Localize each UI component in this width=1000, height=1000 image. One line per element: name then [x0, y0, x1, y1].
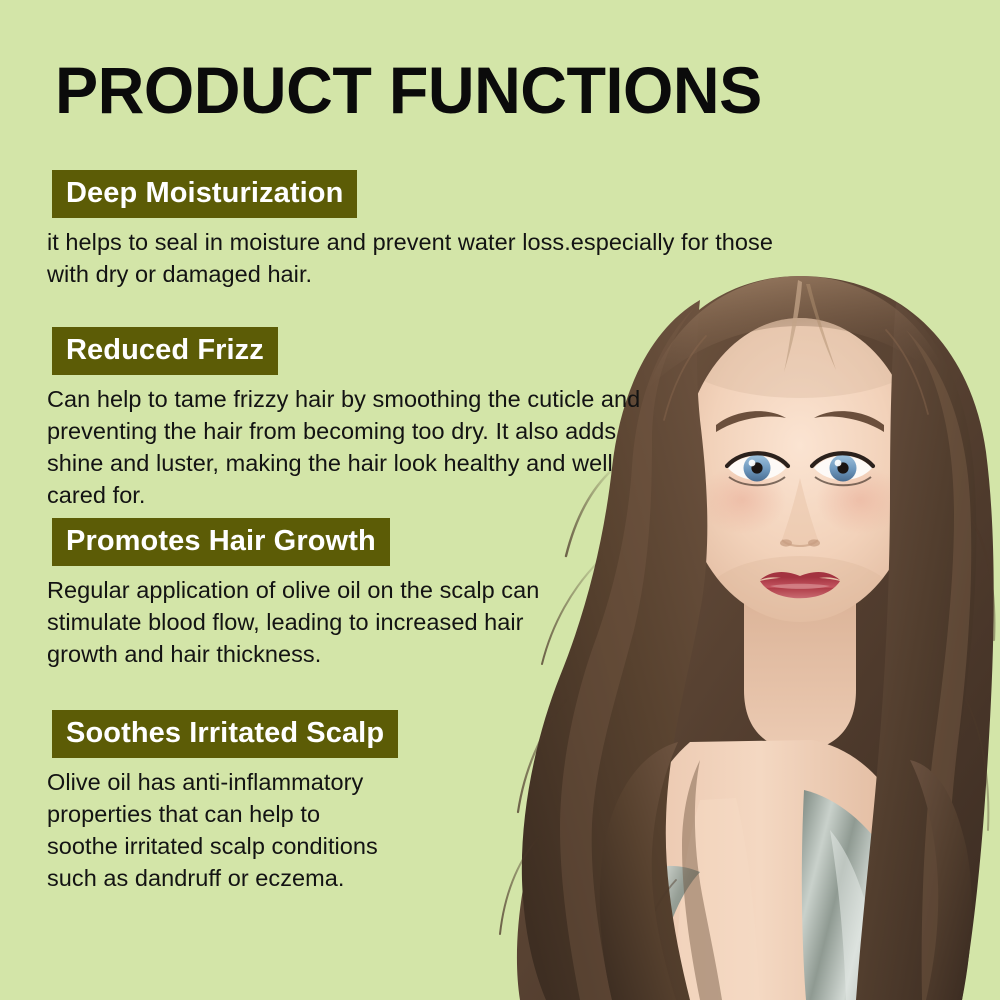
body-line: shine and luster, making the hair look h… [47, 447, 640, 479]
body-line: with dry or damaged hair. [47, 258, 773, 290]
section-body-text: Can help to tame frizzy hair by smoothin… [47, 383, 640, 511]
product-functions-poster: PRODUCT FUNCTIONS Deep Moisturization it… [0, 0, 1000, 1000]
function-section-deep-moisturization: Deep Moisturization it helps to seal in … [0, 170, 773, 290]
page-title: PRODUCT FUNCTIONS [55, 57, 762, 123]
section-heading-badge: Soothes Irritated Scalp [52, 710, 398, 758]
poster-content: PRODUCT FUNCTIONS Deep Moisturization it… [0, 0, 1000, 1000]
body-line: Can help to tame frizzy hair by smoothin… [47, 383, 640, 415]
body-line: Olive oil has anti-inflammatory [47, 766, 398, 798]
body-line: such as dandruff or eczema. [47, 862, 398, 894]
body-line: growth and hair thickness. [47, 638, 539, 670]
body-line: soothe irritated scalp conditions [47, 830, 398, 862]
section-body-text: Regular application of olive oil on the … [47, 574, 539, 670]
section-heading-badge: Promotes Hair Growth [52, 518, 390, 566]
section-body-text: it helps to seal in moisture and prevent… [47, 226, 773, 290]
section-body-text: Olive oil has anti-inflammatory properti… [47, 766, 398, 894]
body-line: preventing the hair from becoming too dr… [47, 415, 640, 447]
body-line: properties that can help to [47, 798, 398, 830]
body-line: cared for. [47, 479, 640, 511]
body-line: Regular application of olive oil on the … [47, 574, 539, 606]
section-heading-badge: Deep Moisturization [52, 170, 357, 218]
body-line: it helps to seal in moisture and prevent… [47, 226, 773, 258]
function-section-soothes-irritated-scalp: Soothes Irritated Scalp Olive oil has an… [0, 710, 398, 894]
function-section-promotes-hair-growth: Promotes Hair Growth Regular application… [0, 518, 539, 670]
section-heading-badge: Reduced Frizz [52, 327, 278, 375]
function-section-reduced-frizz: Reduced Frizz Can help to tame frizzy ha… [0, 327, 640, 511]
body-line: stimulate blood flow, leading to increas… [47, 606, 539, 638]
